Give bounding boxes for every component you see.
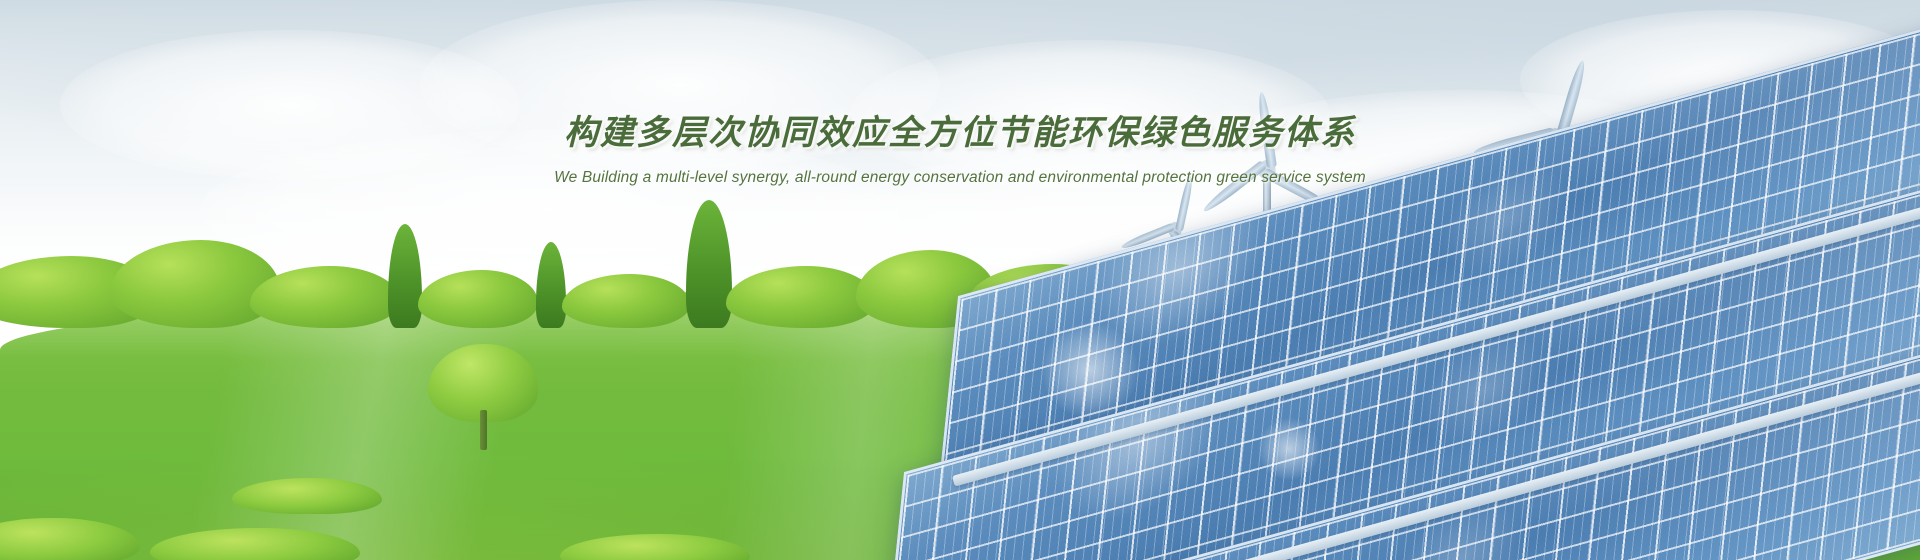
- tree-trunk: [480, 410, 487, 450]
- banner-copy: 构建多层次协同效应全方位节能环保绿色服务体系 We Building a mul…: [0, 112, 1920, 187]
- foreground-shrub: [232, 478, 382, 514]
- lone-tree: [428, 344, 538, 452]
- tree-blob: [110, 240, 280, 328]
- cypress-tree: [686, 200, 732, 328]
- hero-banner: 构建多层次协同效应全方位节能环保绿色服务体系 We Building a mul…: [0, 0, 1920, 560]
- banner-headline: 构建多层次协同效应全方位节能环保绿色服务体系: [0, 112, 1920, 155]
- banner-subheadline: We Building a multi-level synergy, all-r…: [0, 169, 1920, 187]
- tree-blob: [726, 266, 876, 328]
- tree-blob: [562, 274, 690, 328]
- cypress-tree: [536, 242, 566, 328]
- cypress-tree: [388, 224, 422, 328]
- tree-blob: [418, 270, 538, 328]
